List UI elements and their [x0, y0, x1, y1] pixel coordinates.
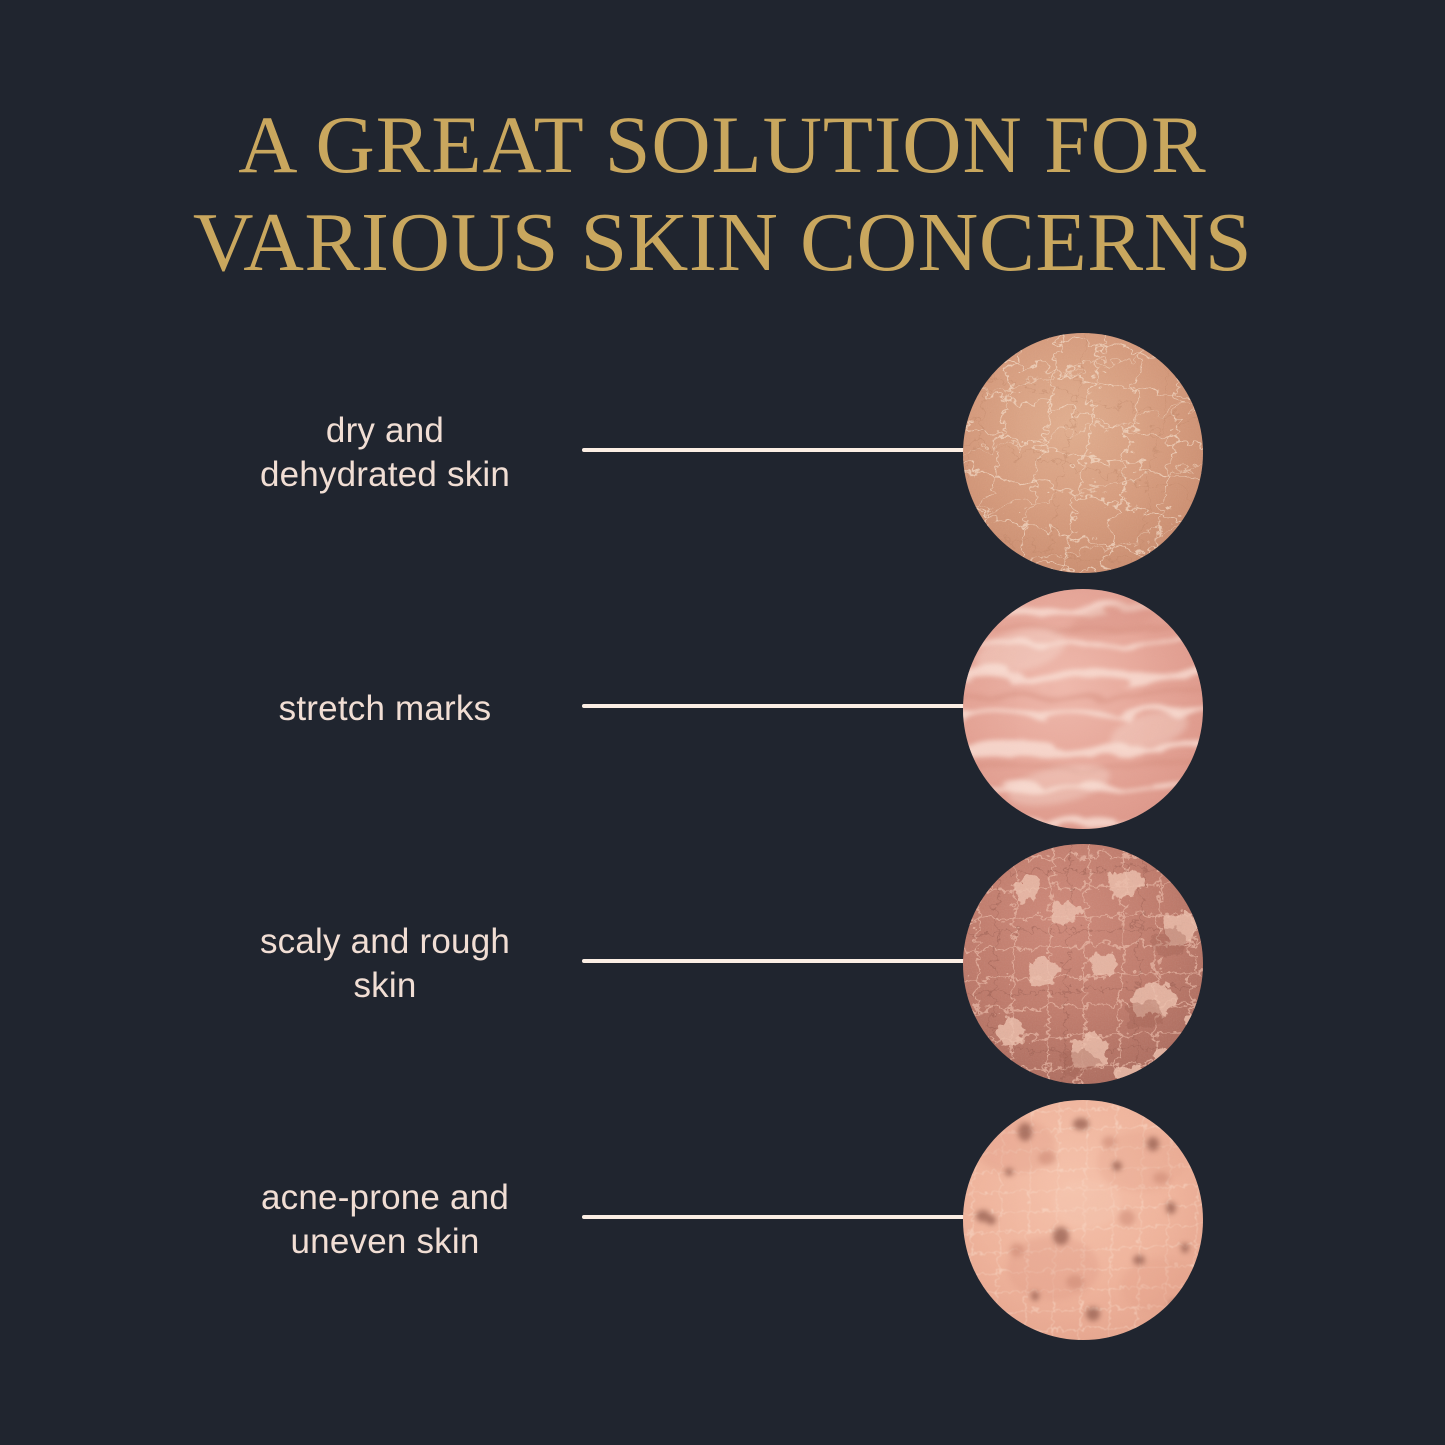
page-title: A GREAT SOLUTION FOR VARIOUS SKIN CONCER… [0, 96, 1445, 292]
page-title-line-2: VARIOUS SKIN CONCERNS [0, 194, 1445, 292]
concern-label-line-2: skin [260, 964, 510, 1008]
concern-label-line-1: stretch marks [279, 687, 492, 731]
concern-label-line-1: dry and [260, 409, 510, 453]
poster-canvas: A GREAT SOLUTION FOR VARIOUS SKIN CONCER… [0, 0, 1445, 1445]
concern-label-dry-dehydrated-skin: dry and dehydrated skin [190, 333, 580, 573]
concern-label-acne-prone-uneven-skin: acne-prone and uneven skin [190, 1100, 580, 1340]
concern-label-line-1: scaly and rough [260, 920, 510, 964]
concern-label-line-2: uneven skin [261, 1220, 509, 1264]
concern-row-scaly-rough-skin: scaly and rough skin [0, 844, 1445, 1084]
concern-row-stretch-marks: stretch marks [0, 589, 1445, 829]
concern-label-scaly-rough-skin: scaly and rough skin [190, 844, 580, 1084]
scaly-rough-skin-swatch [963, 844, 1203, 1084]
concern-label-line-1: acne-prone and [261, 1176, 509, 1220]
concern-row-acne-prone-uneven-skin: acne-prone and uneven skin [0, 1100, 1445, 1340]
page-title-line-1: A GREAT SOLUTION FOR [0, 96, 1445, 194]
stretch-marks-swatch [963, 589, 1203, 829]
concern-label-line-2: dehydrated skin [260, 453, 510, 497]
dry-dehydrated-skin-swatch [963, 333, 1203, 573]
acne-prone-uneven-skin-swatch [963, 1100, 1203, 1340]
concern-row-dry-dehydrated-skin: dry and dehydrated skin [0, 333, 1445, 573]
concern-label-stretch-marks: stretch marks [190, 589, 580, 829]
